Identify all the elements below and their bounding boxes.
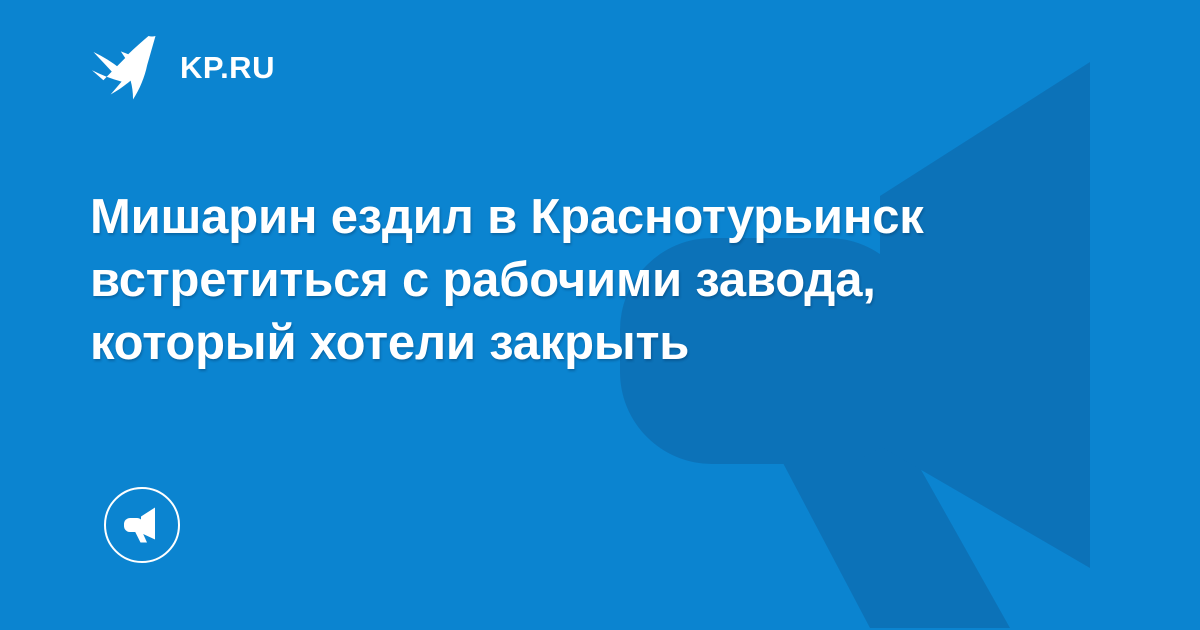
- headline-line-3: который хотели закрыть: [90, 312, 1100, 375]
- megaphone-icon: [121, 506, 163, 544]
- headline-line-1: Мишарин ездил в Краснотурьинск: [90, 186, 1100, 249]
- headline-line-2: встретиться с рабочими завода,: [90, 249, 1100, 312]
- swallow-bird-logo-icon: [90, 34, 162, 100]
- page-title: Мишарин ездил в Краснотурьинск встретить…: [90, 186, 1100, 375]
- brand-header[interactable]: KP.RU: [90, 34, 275, 100]
- megaphone-badge[interactable]: [104, 487, 180, 563]
- brand-name: KP.RU: [180, 52, 275, 83]
- share-card: KP.RU Мишарин ездил в Краснотурьинск вст…: [0, 0, 1200, 630]
